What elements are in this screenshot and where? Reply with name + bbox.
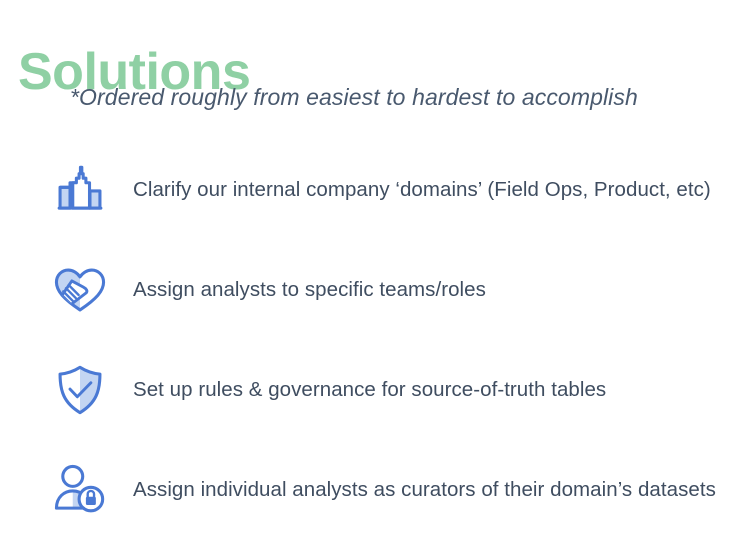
list-item-label: Clarify our internal company ‘domains’ (…: [133, 178, 711, 202]
list-item: Assign analysts to specific teams/roles: [0, 240, 733, 340]
list-item-label: Assign individual analysts as curators o…: [133, 478, 716, 502]
list-item-label: Assign analysts to specific teams/roles: [133, 278, 486, 302]
city-buildings-icon: [50, 160, 110, 220]
user-lock-icon: [50, 460, 110, 520]
shield-check-icon: [50, 360, 110, 420]
page-subtitle: *Ordered roughly from easiest to hardest…: [70, 84, 638, 111]
list-item: Clarify our internal company ‘domains’ (…: [0, 140, 733, 240]
list-item: Assign individual analysts as curators o…: [0, 440, 733, 540]
list-item-label: Set up rules & governance for source-of-…: [133, 378, 606, 402]
list-item: Set up rules & governance for source-of-…: [0, 340, 733, 440]
solutions-list: Clarify our internal company ‘domains’ (…: [0, 140, 733, 540]
heart-handshake-icon: [50, 260, 110, 320]
